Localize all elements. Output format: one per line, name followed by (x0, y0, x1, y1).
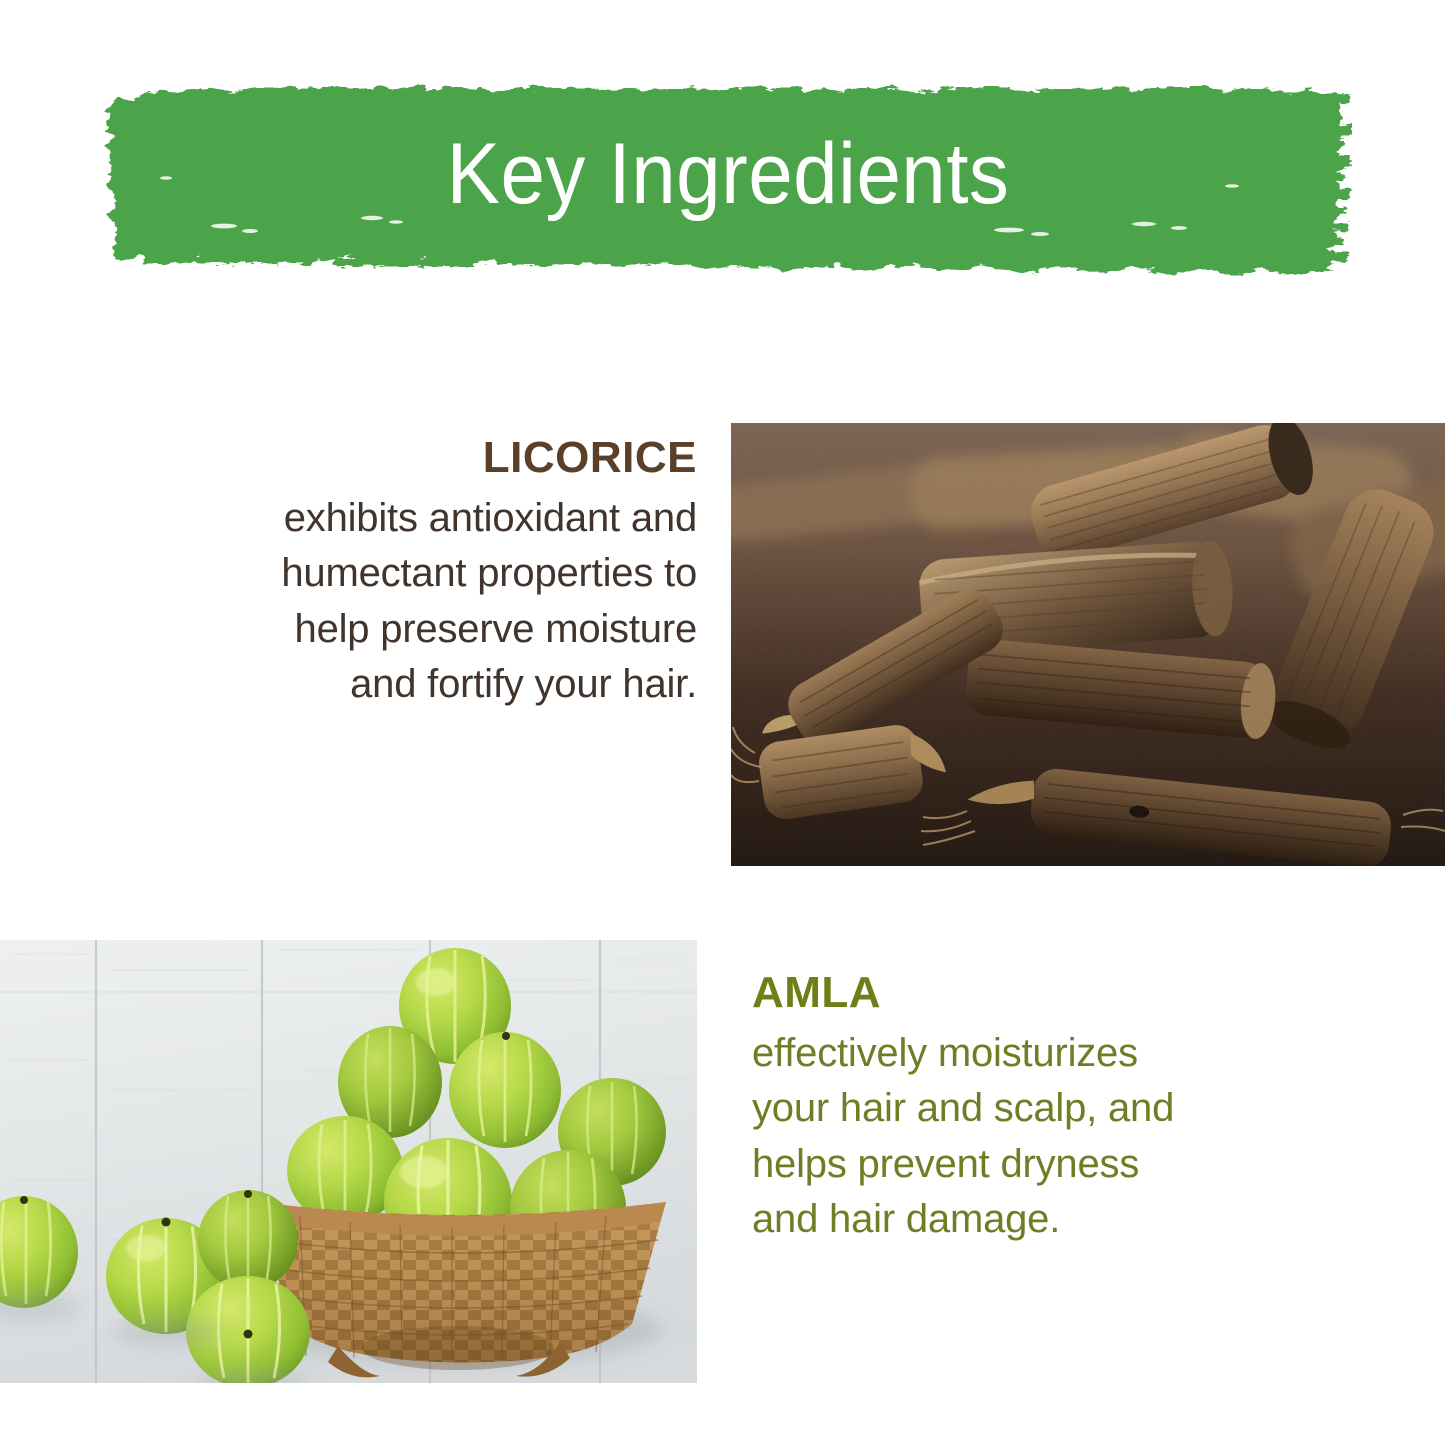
amla-gooseberries-basket-illustration (0, 940, 697, 1383)
amla-fruit-photo (0, 940, 697, 1383)
section-amla: AMLA effectively moisturizes your hair a… (0, 940, 1445, 1383)
amla-line-2: your hair and scalp, and (752, 1081, 1352, 1136)
licorice-description: exhibits antioxidant and humectant prope… (120, 491, 697, 712)
licorice-line-1: exhibits antioxidant and (120, 491, 697, 546)
page-title: Key Ingredients (148, 78, 1309, 283)
licorice-text-block: LICORICE exhibits antioxidant and humect… (120, 435, 697, 712)
licorice-line-4: and fortify your hair. (120, 657, 697, 712)
licorice-root-sticks-illustration (731, 423, 1445, 866)
amla-line-1: effectively moisturizes (752, 1026, 1352, 1081)
licorice-heading: LICORICE (120, 435, 697, 481)
amla-text-block: AMLA effectively moisturizes your hair a… (752, 970, 1352, 1247)
amla-line-3: helps prevent dryness (752, 1137, 1352, 1192)
section-licorice: LICORICE exhibits antioxidant and humect… (0, 423, 1445, 866)
key-ingredients-banner: Key Ingredients (104, 78, 1352, 283)
amla-description: effectively moisturizes your hair and sc… (752, 1026, 1352, 1247)
amla-line-4: and hair damage. (752, 1192, 1352, 1247)
licorice-line-3: help preserve moisture (120, 602, 697, 657)
licorice-root-photo (731, 423, 1445, 866)
licorice-line-2: humectant properties to (120, 546, 697, 601)
amla-heading: AMLA (752, 970, 1352, 1016)
